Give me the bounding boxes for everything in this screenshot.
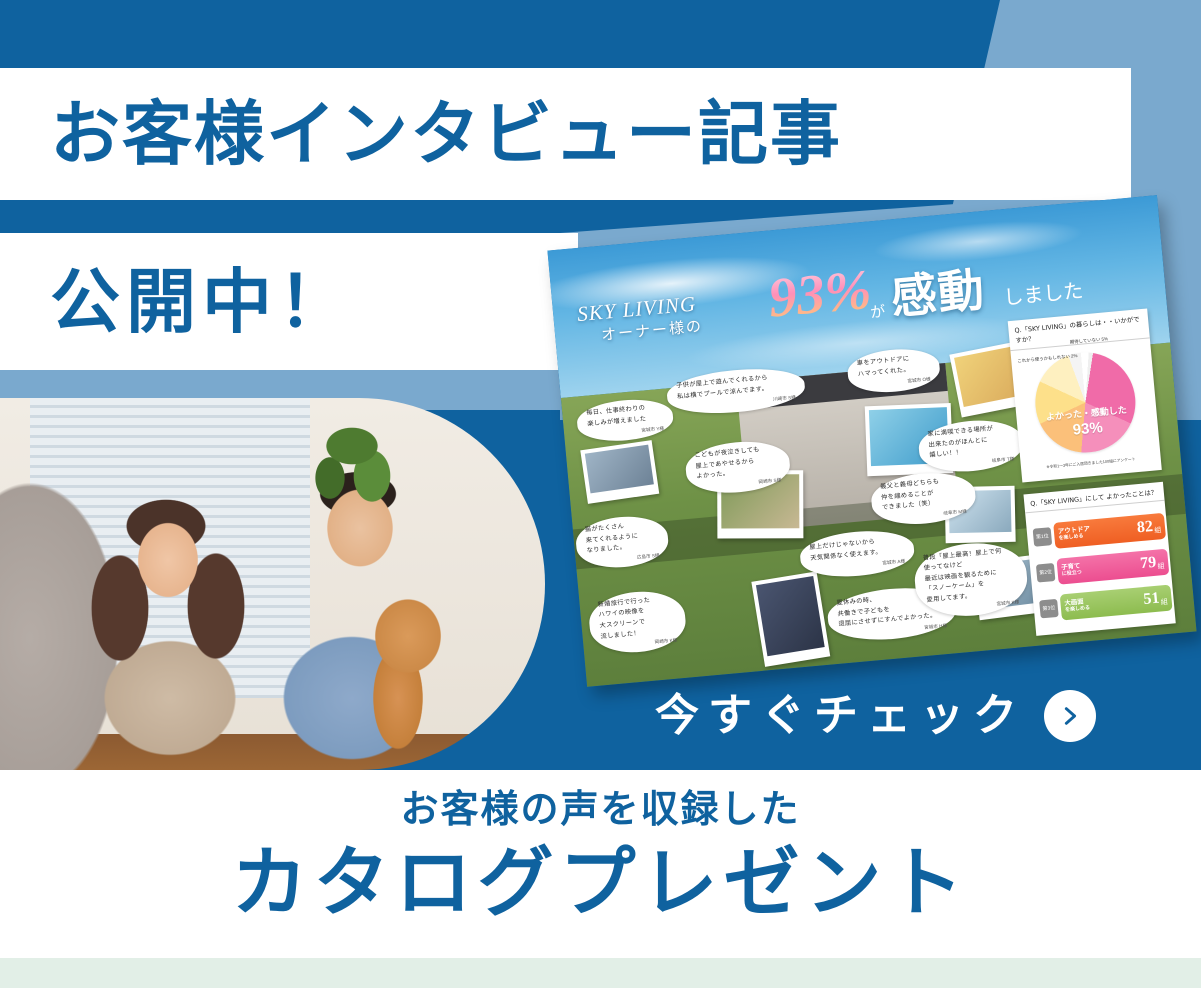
survey-pie-card: Q.「SKY LIVING」の暮らしは・・いかがですか？ 期待していない 5% … [1008, 309, 1162, 483]
brochure-emotion-suffix: しました [1002, 274, 1084, 310]
rank-badge: 第3位 [1039, 599, 1059, 619]
polaroid-image [756, 576, 825, 656]
ranking-unit: 組 [1157, 561, 1165, 572]
title-plate-2: 公開中！ [0, 233, 578, 370]
title-plate-1: お客様インタビュー記事 [0, 68, 1131, 200]
ranking-bar: アウトドア を楽しめる 82 組 [1053, 513, 1166, 549]
ranking-sub: を楽しめる [1065, 606, 1090, 614]
ranking-bar: 大画面 を楽しめる 51 組 [1060, 585, 1173, 621]
brochure-percent: 93% [766, 258, 874, 331]
polaroid-image [585, 445, 654, 494]
ranking-unit: 組 [1154, 525, 1162, 536]
catalog-offer-line1: お客様の声を収録した [0, 790, 1201, 832]
interview-photo [0, 398, 545, 770]
ranking-sub: に役立つ [1062, 570, 1082, 578]
ranking-value: 51 [1143, 590, 1161, 609]
catalog-brochure-preview[interactable]: SKY LIVING オーナー様の 93% が 感動 しました 毎日、仕事終わり… [547, 195, 1196, 687]
ranking-value: 82 [1136, 518, 1154, 537]
page-title-line1: お客様インタビュー記事 [0, 99, 842, 169]
survey-ranking-card: Q.「SKY LIVING」にして よかったことは？ 第1位 アウトドア を楽し… [1023, 482, 1175, 636]
catalog-offer: お客様の声を収録した カタログプレゼント [0, 790, 1201, 927]
bottom-mint-strip [0, 958, 1201, 988]
ranking-label: アウトドア を楽しめる [1058, 526, 1091, 542]
check-now-cta[interactable]: 今すぐチェック [655, 690, 1096, 742]
ranking-row: 第3位 大画面 を楽しめる 51 組 [1039, 584, 1173, 624]
page-title-line2: 公開中！ [0, 267, 354, 337]
polaroid-photo [751, 571, 830, 666]
rank-badge: 第1位 [1033, 527, 1053, 547]
header-band-top [0, 0, 1201, 68]
catalog-offer-line2: カタログプレゼント [0, 840, 1201, 927]
ranking-row: 第2位 子育て に役立つ 79 組 [1035, 548, 1169, 588]
ranking-value: 79 [1139, 554, 1157, 573]
brochure-emotion: 感動 [888, 253, 988, 327]
ranking-row: 第1位 アウトドア を楽しめる 82 組 [1032, 512, 1166, 552]
ranking-bar: 子育て に役立つ 79 組 [1056, 549, 1169, 585]
pie-footnote: ※令和1～3年にご入居頂きました100組にアンケート [1029, 455, 1153, 472]
polaroid-photo [580, 440, 659, 504]
interview-photo-image [0, 398, 545, 770]
ranking-label: 子育て に役立つ [1061, 563, 1082, 578]
chevron-right-icon[interactable] [1044, 690, 1096, 742]
ranking-label: 大画面 を楽しめる [1064, 598, 1090, 613]
rank-badge: 第2位 [1036, 563, 1056, 583]
ranking-sub: を楽しめる [1058, 533, 1090, 542]
brochure-particle: が [869, 300, 886, 322]
cta-label: 今すぐチェック [655, 694, 1026, 738]
ranking-unit: 組 [1160, 597, 1168, 608]
